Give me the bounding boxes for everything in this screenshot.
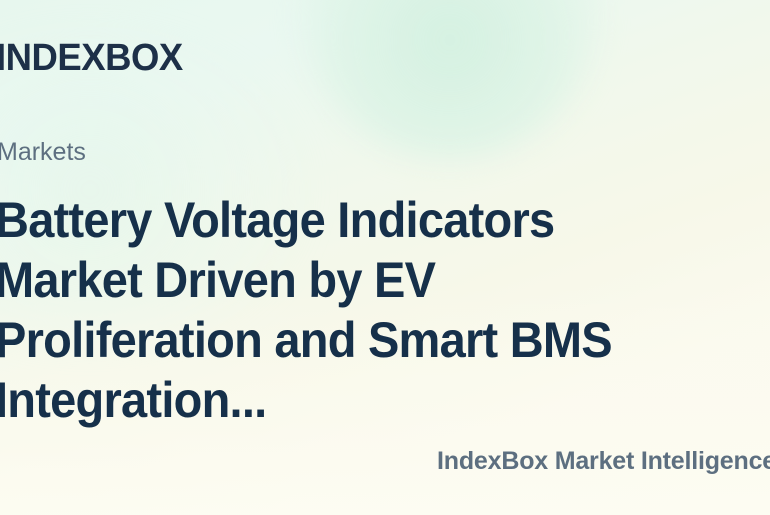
article-share-card: INDEXBOX Markets Battery Voltage Indicat… xyxy=(0,0,770,515)
page-title: Battery Voltage Indicators Market Driven… xyxy=(0,190,770,430)
indexbox-logo: INDEXBOX xyxy=(0,36,183,80)
card-content: INDEXBOX Markets Battery Voltage Indicat… xyxy=(0,0,770,515)
headline-line-3: Proliferation and Smart BMS xyxy=(0,310,738,370)
source-attribution: IndexBox Market Intelligence xyxy=(437,445,770,477)
headline-line-4: Integration... xyxy=(0,370,738,430)
category-label: Markets xyxy=(0,136,86,168)
headline-line-2: Market Driven by EV xyxy=(0,250,738,310)
headline-line-1: Battery Voltage Indicators xyxy=(0,190,738,250)
